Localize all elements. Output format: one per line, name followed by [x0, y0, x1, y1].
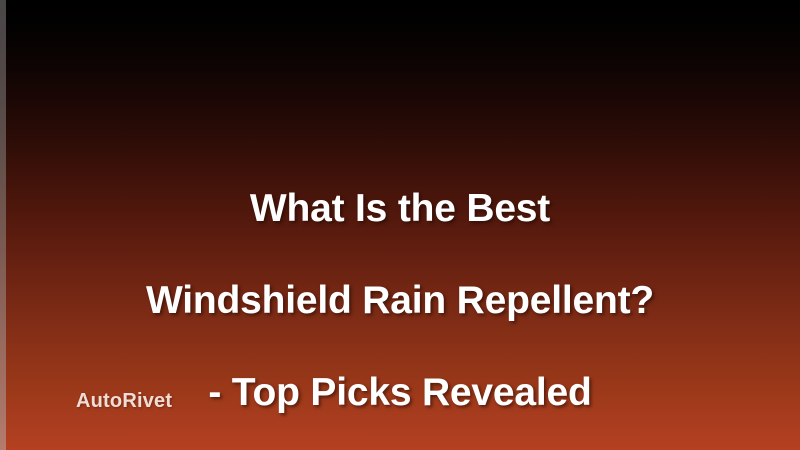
brand-wordmark: AutoRivet [76, 390, 172, 413]
article-hero-banner: What Is the Best Windshield Rain Repelle… [0, 0, 800, 450]
headline-line-2: Windshield Rain Repellent? [24, 278, 776, 324]
headline-line-1: What Is the Best [24, 186, 776, 232]
